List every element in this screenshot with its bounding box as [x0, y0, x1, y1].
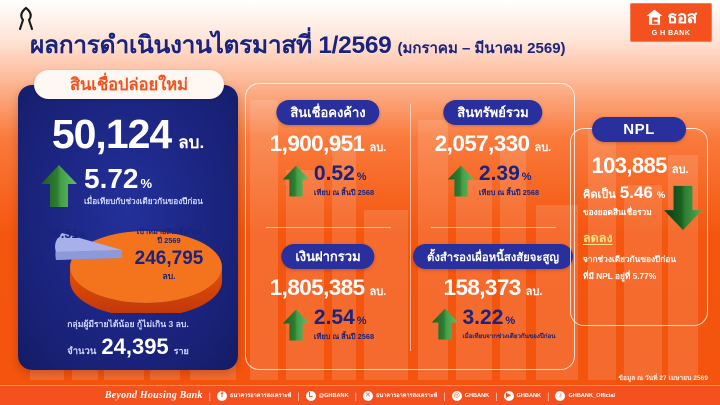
metric-delta-note: เมื่อเทียบจากช่วงเดียวกันของปีก่อน — [463, 331, 556, 341]
npl-direction-label: ลดลง — [583, 228, 697, 248]
metric-delta-sign: % — [357, 171, 367, 183]
npl-ratio-line: คิดเป็น 5.46 % — [583, 184, 697, 203]
low-income-count-row: จำนวน 24,395 ราย — [18, 335, 238, 359]
metric-value: 1,805,385 — [270, 276, 365, 300]
metric-delta-row: 3.22 % เมื่อเทียบจากช่วงเดียวกันของปีก่อ… — [411, 307, 575, 341]
metric-delta-line: 0.52 % — [314, 163, 374, 185]
metric-value: 1,900,951 — [270, 132, 365, 156]
footer-separator: | — [443, 391, 445, 401]
metric-unit: ลบ. — [369, 138, 386, 156]
metric-chip-label: สินทรัพย์รวม — [457, 102, 528, 123]
page-title: ผลการดำเนินงานไตรมาสที่ 1/2569 — [30, 25, 391, 64]
pie-target-label-line2: ปี 2569 — [157, 236, 180, 245]
logo-english-text: G H BANK — [652, 28, 691, 37]
metric-unit: ลบ. — [534, 138, 551, 156]
pie-target-unit: ลบ. — [110, 269, 228, 283]
npl-ratio-sign: % — [657, 190, 665, 201]
social-label: ธนาคารอาคารสงเคราะห์ — [376, 392, 437, 400]
pie-share-sign: % — [78, 231, 85, 240]
npl-ratio-subtext: ของยอดสินเชื่อรวม — [583, 205, 697, 219]
new-loans-value-row: 50,124 ลบ. — [18, 113, 238, 156]
header: ผลการดำเนินงานไตรมาสที่ 1/2569 (มกราคม –… — [0, 0, 720, 62]
metric-delta-sign: % — [505, 315, 515, 327]
metric-delta-line: 2.54 % — [314, 307, 374, 329]
metric-delta-value: 3.22 — [463, 307, 504, 329]
low-income-count-prefix: จำนวน — [67, 344, 96, 359]
npl-value-row: 103,885 ลบ. — [571, 153, 709, 179]
footer-separator: | — [495, 391, 497, 401]
social-label: GHBANK — [465, 393, 490, 399]
social-facebook[interactable]: f ธนาคารอาคารสงเคราะห์ — [217, 391, 291, 401]
arrow-up-icon — [40, 163, 78, 209]
social-instagram[interactable]: ◎ GHBANK — [452, 391, 490, 401]
new-loans-change-sign: % — [141, 176, 153, 191]
logo-row: ธอส — [645, 8, 696, 27]
new-loans-change-text: 5.72 % เมื่อเทียบกับช่วงเดียวกันของปีก่อ… — [84, 165, 203, 208]
line-icon: L — [306, 391, 316, 401]
infographic-canvas: ผลการดำเนินงานไตรมาสที่ 1/2569 (มกราคม –… — [0, 0, 720, 405]
new-loans-change-note: เมื่อเทียบกับช่วงเดียวกันของปีก่อน — [84, 195, 203, 208]
social-label: GHBANK_Official — [568, 393, 615, 399]
logo-thai-text: ธอส — [667, 9, 696, 26]
metric-chip-label: ตั้งสำรองเผื่อหนี้สงสัยจะสูญ — [427, 248, 559, 266]
metric-chip: ตั้งสำรองเผื่อหนี้สงสัยจะสูญ — [413, 244, 573, 269]
title-wrap: ผลการดำเนินงานไตรมาสที่ 1/2569 (มกราคม –… — [30, 25, 566, 64]
footer-separator: | — [209, 391, 211, 401]
footer-separator: | — [547, 391, 549, 401]
low-income-footnote: กลุ่มผู้มีรายได้น้อย กู้ไม่เกิน 3 ลบ. จำ… — [18, 317, 238, 359]
metric-unit: ลบ. — [369, 282, 386, 300]
metric-delta-line: 2.39 % — [479, 163, 539, 185]
as-of-date: ข้อมูล ณ วันที่ 27 เมษายน 2569 — [619, 373, 708, 383]
metric-delta-text: 3.22 % เมื่อเทียบจากช่วงเดียวกันของปีก่อ… — [463, 307, 556, 341]
metric-chip: สินทรัพย์รวม — [443, 100, 542, 125]
metric-chip: เงินฝากรวม — [281, 244, 374, 269]
npl-note-line2: ที่มี NPL อยู่ที่ 5.77% — [583, 269, 697, 283]
metrics-card: สินเชื่อคงค้าง 1,900,951 ลบ. 0.52 % เทีย… — [245, 83, 575, 370]
npl-chip: NPL — [592, 117, 686, 142]
metric-cell-outstanding-loans: สินเชื่อคงค้าง 1,900,951 ลบ. 0.52 % เทีย… — [246, 84, 410, 227]
metric-delta-note: เทียบ ณ สิ้นปี 2568 — [479, 187, 539, 199]
new-loans-unit: ลบ. — [178, 129, 204, 156]
npl-chip-label: NPL — [623, 121, 655, 138]
metric-delta-text: 0.52 % เทียบ ณ สิ้นปี 2568 — [314, 163, 374, 199]
social-tiktok[interactable]: ♪ GHBANK_Official — [555, 391, 615, 401]
youtube-icon: ▶ — [504, 391, 514, 401]
metric-delta-value: 2.39 — [479, 163, 520, 185]
pie-target-label-line1: เป้าหมายสินเชื่อใหม่ — [137, 227, 202, 236]
social-youtube[interactable]: ▶ GHBANK — [504, 391, 542, 401]
new-loans-change-row: 5.72 % เมื่อเทียบกับช่วงเดียวกันของปีก่อ… — [40, 163, 240, 209]
metric-value-row: 158,373 ลบ. — [411, 276, 575, 300]
page-subtitle: (มกราคม – มีนาคม 2569) — [397, 36, 565, 60]
npl-card: NPL 103,885 ลบ. คิดเป็น 5.46 % ของยอดสิน… — [570, 128, 708, 326]
metric-delta-text: 2.54 % เทียบ ณ สิ้นปี 2568 — [314, 307, 374, 343]
pie-target-label: เป้าหมายสินเชื่อใหม่ ปี 2569 — [110, 227, 228, 246]
social-x-twitter[interactable]: ✕ ธนาคารอาคารสงเคราะห์ — [363, 391, 437, 401]
metric-delta-value: 0.52 — [314, 163, 355, 185]
metric-delta-value: 2.54 — [314, 307, 355, 329]
new-loans-panel: 50,124 ลบ. 5.72 % เมื่อเทียบกับช่วงเดียว… — [18, 85, 238, 370]
ghbank-logo: ธอส G H BANK — [630, 3, 712, 42]
pie-center-label: เป้าหมายสินเชื่อใหม่ ปี 2569 246,795 ลบ. — [110, 227, 228, 283]
target-pie-chart: 20.31% เป้าหมายสินเชื่อใหม่ ปี 2569 246,… — [18, 215, 238, 313]
metric-value-row: 1,805,385 ลบ. — [246, 276, 410, 300]
npl-value: 103,885 — [591, 153, 666, 179]
low-income-count-value: 24,395 — [101, 335, 168, 358]
pie-share-value: 20.31 — [47, 227, 78, 241]
metric-delta-note: เทียบ ณ สิ้นปี 2568 — [314, 331, 374, 343]
pie-target-value: 246,795 — [110, 248, 228, 269]
low-income-description: กลุ่มผู้มีรายได้น้อย กู้ไม่เกิน 3 ลบ. — [18, 317, 238, 331]
footer-separator: | — [355, 391, 357, 401]
metric-chip-label: เงินฝากรวม — [295, 246, 360, 267]
facebook-icon: f — [217, 391, 227, 401]
metric-value-row: 2,057,330 ลบ. — [411, 132, 575, 156]
social-label: GHBANK — [517, 393, 542, 399]
tiktok-icon: ♪ — [555, 391, 565, 401]
metric-value: 2,057,330 — [435, 132, 530, 156]
metric-cell-total-assets: สินทรัพย์รวม 2,057,330 ลบ. 2.39 % เทียบ … — [411, 84, 575, 227]
new-loans-change-line: 5.72 % — [84, 165, 203, 193]
instagram-icon: ◎ — [452, 391, 462, 401]
metric-delta-row: 2.54 % เทียบ ณ สิ้นปี 2568 — [246, 307, 410, 343]
npl-ratio-prefix: คิดเป็น — [583, 185, 616, 203]
social-line[interactable]: L @GHBANK — [306, 391, 349, 401]
new-loans-chip-label: สินเชื่อปล่อยใหม่ — [70, 72, 188, 98]
metric-delta-text: 2.39 % เทียบ ณ สิ้นปี 2568 — [479, 163, 539, 199]
footer-separator: | — [297, 391, 299, 401]
npl-ratio-value: 5.46 — [620, 184, 653, 202]
pie-share-label: 20.31% — [47, 227, 85, 241]
new-loans-chip: สินเชื่อปล่อยใหม่ — [34, 70, 224, 99]
new-loans-value: 50,124 — [52, 113, 171, 155]
arrow-up-icon — [447, 164, 475, 198]
new-loans-change-value: 5.72 — [84, 165, 139, 193]
arrow-up-icon — [431, 307, 459, 341]
arrow-up-icon — [282, 308, 310, 342]
metric-delta-sign: % — [522, 171, 532, 183]
metric-value-row: 1,900,951 ลบ. — [246, 132, 410, 156]
npl-body: คิดเป็น 5.46 % ของยอดสินเชื่อรวม ลดลง จา… — [583, 184, 697, 283]
footer-brand: Beyond Housing Bank — [105, 390, 203, 401]
low-income-count-suffix: ราย — [174, 344, 189, 358]
metric-chip-label: สินเชื่อคงค้าง — [290, 102, 365, 123]
footer-bar: Beyond Housing Bank | f ธนาคารอาคารสงเคร… — [0, 385, 720, 405]
house-logo-icon — [645, 8, 664, 27]
npl-note-line1: จากช่วงเดียวกันของปีก่อน — [583, 252, 697, 266]
metric-delta-note: เทียบ ณ สิ้นปี 2568 — [314, 187, 374, 199]
social-label: @GHBANK — [319, 393, 349, 399]
metric-unit: ลบ. — [526, 282, 543, 300]
metric-chip: สินเชื่อคงค้าง — [276, 100, 379, 125]
metric-delta-line: 3.22 % — [463, 307, 556, 329]
x-twitter-icon: ✕ — [363, 391, 373, 401]
metric-value: 158,373 — [444, 276, 521, 300]
metric-cell-loan-loss-provision: ตั้งสำรองเผื่อหนี้สงสัยจะสูญ 158,373 ลบ.… — [411, 228, 575, 371]
metric-delta-row: 2.39 % เทียบ ณ สิ้นปี 2568 — [411, 163, 575, 199]
metric-delta-sign: % — [357, 315, 367, 327]
npl-unit: ลบ. — [672, 160, 689, 178]
arrow-up-icon — [282, 164, 310, 198]
metric-delta-row: 0.52 % เทียบ ณ สิ้นปี 2568 — [246, 163, 410, 199]
social-label: ธนาคารอาคารสงเคราะห์ — [230, 392, 291, 400]
metric-cell-total-deposits: เงินฝากรวม 1,805,385 ลบ. 2.54 % เทียบ ณ … — [246, 228, 410, 371]
